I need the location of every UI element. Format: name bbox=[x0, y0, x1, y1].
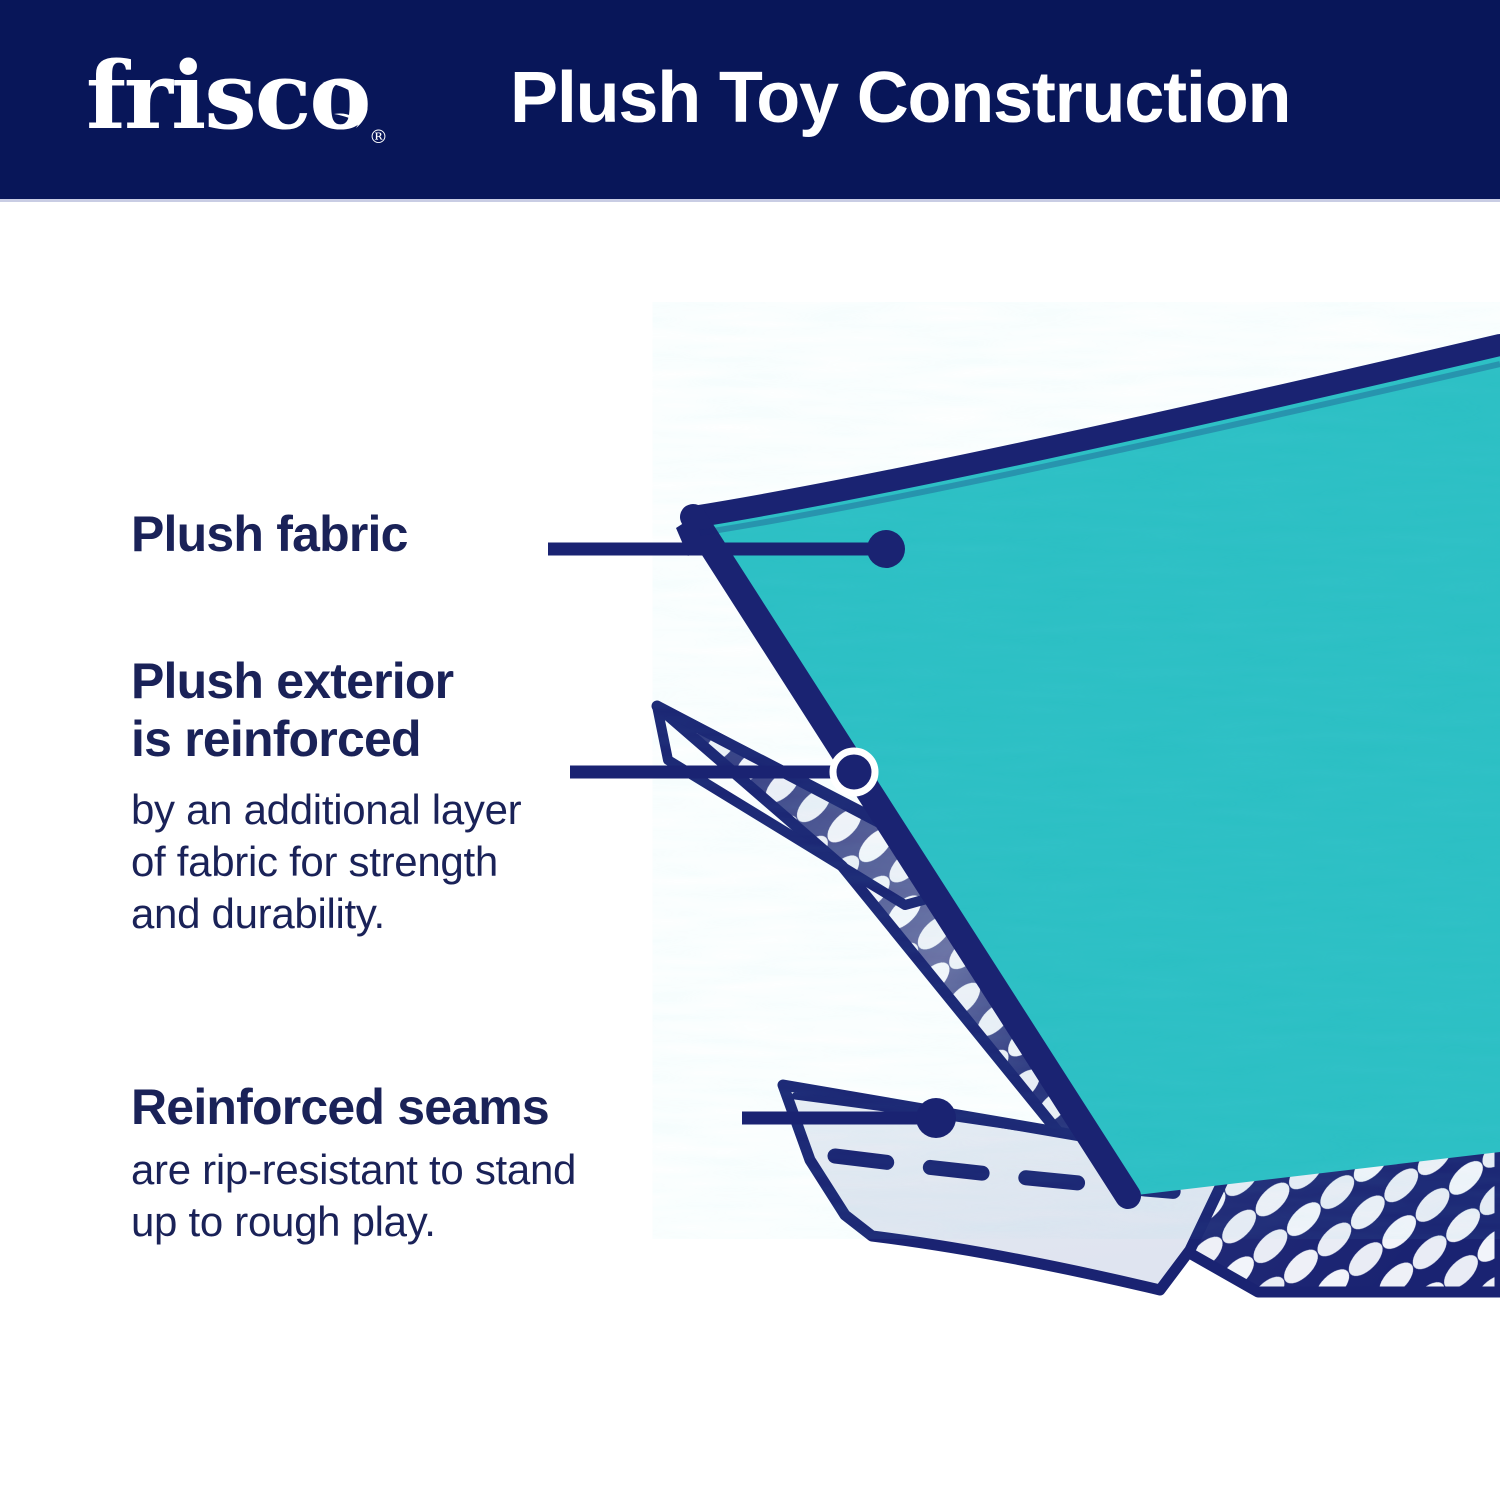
brand-logo-wordmark: frisco bbox=[86, 40, 386, 152]
leader-dot-reinforced-seams bbox=[916, 1098, 956, 1138]
infographic-page: frisco ® Plush Toy Construction Plush fa… bbox=[0, 0, 1500, 1500]
plush-toy-cutaway-diagram bbox=[0, 200, 1500, 1500]
leader-dot-plush-exterior bbox=[833, 751, 875, 793]
page-title: Plush Toy Construction bbox=[510, 52, 1410, 144]
registered-trademark-icon: ® bbox=[369, 128, 388, 147]
leader-dot-plush-fabric bbox=[867, 530, 905, 568]
header-bar: frisco ® Plush Toy Construction bbox=[0, 0, 1500, 199]
brand-logo: frisco ® bbox=[86, 40, 386, 152]
